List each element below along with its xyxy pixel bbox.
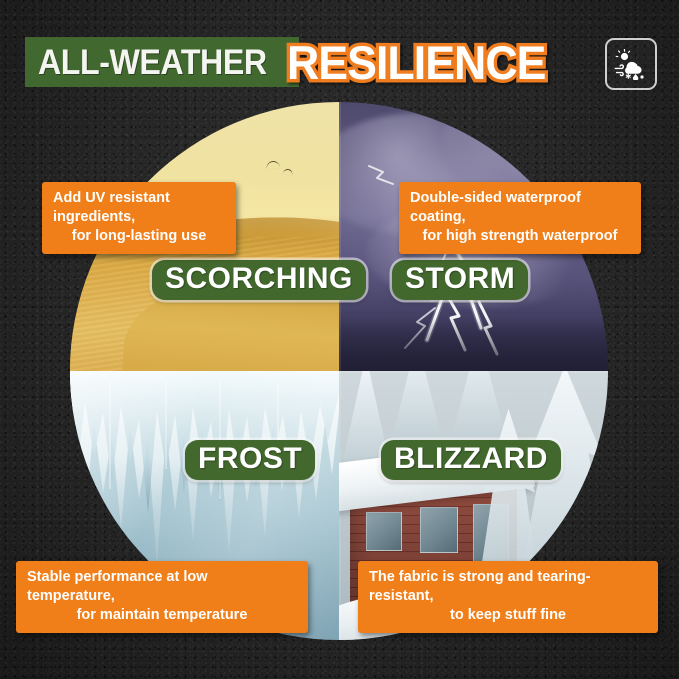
all-weather-resilience-poster: ALL-WEATHER RESILIENCE	[0, 0, 679, 679]
title-resilience: RESILIENCE	[287, 33, 559, 93]
cabin-window	[366, 512, 401, 550]
callout-low-temperature: Stable performance at low temperature, f…	[16, 561, 308, 633]
title-all-weather-banner: ALL-WEATHER	[25, 37, 299, 87]
callout-uv-resistant: Add UV resistant ingredients, for long-l…	[42, 182, 236, 254]
title-resilience-text: RESILIENCE	[287, 33, 545, 93]
title-all-weather-text: ALL-WEATHER	[38, 45, 267, 80]
callout-low-temperature-line1: Stable performance at low temperature,	[27, 568, 297, 606]
callout-tearing-resistant-line2: to keep stuff fine	[369, 606, 647, 625]
callout-low-temperature-line2: for maintain temperature	[27, 606, 297, 625]
callout-tearing-resistant-line1: The fabric is strong and tearing-resista…	[369, 568, 647, 606]
poster-header: ALL-WEATHER RESILIENCE	[25, 33, 657, 95]
callout-tearing-resistant: The fabric is strong and tearing-resista…	[358, 561, 658, 633]
cabin-window	[420, 507, 459, 554]
callout-waterproof-line2: for high strength waterproof	[410, 227, 630, 246]
sun-cloud-wind-snow-rain-icon	[613, 48, 649, 80]
storm-horizon	[339, 317, 608, 371]
callout-uv-line2: for long-lasting use	[53, 227, 225, 246]
weather-badge	[605, 38, 657, 90]
callout-waterproof: Double-sided waterproof coating, for hig…	[399, 182, 641, 254]
label-frost: FROST	[185, 440, 315, 480]
label-storm: STORM	[392, 260, 528, 300]
label-scorching: SCORCHING	[152, 260, 366, 300]
label-blizzard: BLIZZARD	[381, 440, 561, 480]
callout-waterproof-line1: Double-sided waterproof coating,	[410, 189, 630, 227]
quadrant-divider-horizontal	[70, 371, 608, 373]
callout-uv-line1: Add UV resistant ingredients,	[53, 189, 225, 227]
